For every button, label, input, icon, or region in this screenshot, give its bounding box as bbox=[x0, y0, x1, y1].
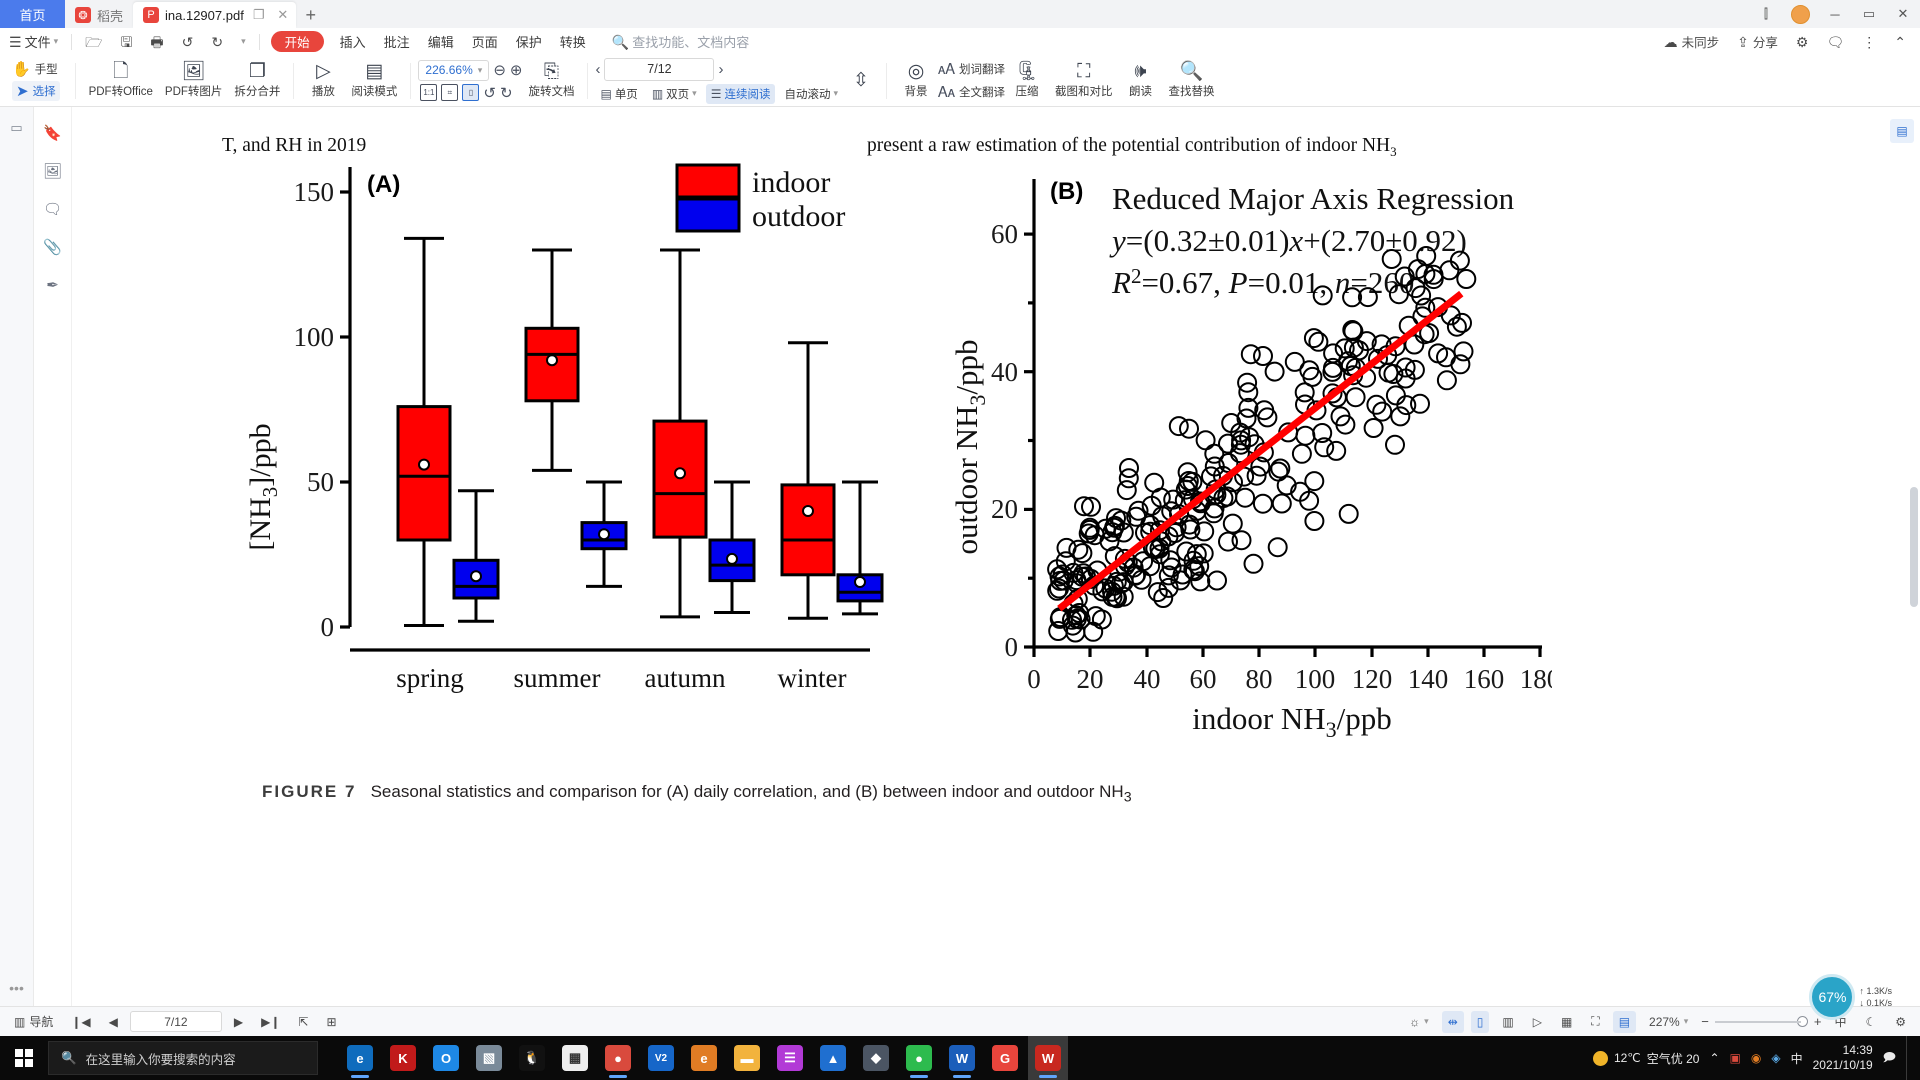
panelA-label: (A) bbox=[367, 171, 400, 198]
divider bbox=[75, 63, 76, 99]
word-translate-label: 划词翻译 bbox=[959, 61, 1005, 77]
undo-icon[interactable]: ↺ bbox=[173, 31, 203, 53]
settings-icon[interactable]: ⚙ bbox=[1889, 1011, 1912, 1033]
gear-icon: ⚙ bbox=[1796, 35, 1809, 49]
more-dots-icon[interactable]: ••• bbox=[9, 980, 24, 996]
pdf-icon: P bbox=[143, 7, 159, 23]
pdf-to-image-icon: 🖼 bbox=[182, 62, 206, 81]
panelB-scatter-points bbox=[1048, 247, 1475, 642]
ribbon-tab-edit-label: 编辑 bbox=[428, 32, 454, 51]
read-aloud-icon: 🕪 bbox=[1134, 62, 1146, 81]
new-tab-button[interactable]: + bbox=[296, 2, 326, 28]
ribbon-tab-annotate[interactable]: 批注 bbox=[375, 31, 419, 53]
prev-page-icon[interactable]: ◀ bbox=[103, 1011, 124, 1033]
new-tab-label: + bbox=[306, 5, 317, 26]
panelB-annotation-1: y=(0.32±0.01)x+(2.70±0.92) bbox=[1109, 223, 1467, 258]
view-mode-auto-scroll-label: 自动滚动 bbox=[784, 86, 830, 102]
crop-view-icon[interactable]: ⛶ bbox=[1585, 1011, 1605, 1033]
bookmark-icon[interactable]: 🔖 bbox=[41, 121, 65, 145]
background-label: 背景 bbox=[904, 83, 927, 99]
divider bbox=[410, 63, 411, 99]
taskbar-search-placeholder: 在这里输入你要搜索的内容 bbox=[86, 1049, 236, 1068]
hand-tool[interactable]: ✋ 手型 bbox=[12, 60, 60, 78]
panelB-label: (B) bbox=[1050, 178, 1083, 205]
play-label: 播放 bbox=[312, 83, 335, 99]
sync-status-button[interactable]: ☁ 未同步 bbox=[1656, 31, 1728, 53]
main-area: ▭ ••• 🔖 🖼 🗨 📎 ✒ T, and RH in 2019 presen… bbox=[0, 107, 1920, 1006]
file-menu-label: 文件 bbox=[25, 32, 51, 51]
window-controls: ⫿ ─ ▭ ✕ bbox=[1749, 0, 1920, 28]
redo-icon[interactable]: ↻ bbox=[202, 31, 232, 53]
compress-button[interactable]: 🗜 压缩 bbox=[1005, 57, 1049, 105]
tab-pdf-label: ina.12907.pdf bbox=[165, 8, 244, 23]
full-translate-icon: 🗛 bbox=[938, 84, 955, 101]
collapse-ribbon-button[interactable]: ⌃ bbox=[1886, 31, 1914, 53]
panelB-xtick-0: 0 bbox=[1027, 664, 1041, 694]
panelA-ytick-0: 0 bbox=[321, 612, 335, 642]
ribbon-tab-convert[interactable]: 转换 bbox=[551, 31, 595, 53]
taskbar-app-wechat[interactable]: ● bbox=[899, 1036, 939, 1080]
tray-expand-icon[interactable]: ⌃ bbox=[1709, 1051, 1719, 1065]
windows-logo-icon bbox=[15, 1049, 33, 1067]
word-translate-button[interactable]: 🗚 划词翻译 bbox=[938, 61, 1005, 78]
panelB-xlabel: indoor NH3/ppb bbox=[1192, 701, 1392, 742]
compress-icon: 🗜 bbox=[1015, 62, 1039, 81]
status-bar: ▥ 导航 ❙◀ ◀ 7/12 ▶ ▶❙ ⇱ ⊞ ☼▾ ⇹ ▯ ▥ ▷ ▦ ⛶ ▤… bbox=[0, 1006, 1920, 1036]
cloud-sync-icon: ☁ bbox=[1664, 35, 1678, 49]
tab-pdf-document[interactable]: P ina.12907.pdf ❐ ✕ bbox=[133, 2, 296, 28]
network-speed-widget[interactable]: 67% ↑ 1.3K/s ↓ 0.1K/s bbox=[1809, 974, 1892, 1020]
more-icon: ⋮ bbox=[1862, 35, 1876, 49]
ribbon-tab-protect[interactable]: 保护 bbox=[507, 31, 551, 53]
find-replace-icon: 🔍 bbox=[1180, 62, 1204, 81]
panelB-ytick-20: 20 bbox=[991, 494, 1018, 524]
clock[interactable]: 14:39 2021/10/19 bbox=[1813, 1043, 1873, 1073]
thumbnail-view-icon[interactable]: ▦ bbox=[1555, 1011, 1578, 1033]
screenshot-compare-label: 截图和对比 bbox=[1055, 83, 1113, 99]
taskbar-app-chrome[interactable]: ● bbox=[598, 1036, 638, 1080]
print-icon[interactable]: 🖶 bbox=[141, 31, 172, 53]
reading-mode-label: 阅读模式 bbox=[351, 83, 397, 99]
boxplot-autumn-indoor bbox=[654, 250, 706, 617]
network-speed-percent-label: 67% bbox=[1818, 989, 1846, 1005]
boxplot-autumn-outdoor bbox=[710, 482, 754, 613]
comment-icon: 🗨 bbox=[1826, 35, 1844, 49]
hand-icon: ✋ bbox=[12, 60, 31, 78]
fit-ratio-label: 1:1 bbox=[423, 88, 434, 97]
zoom-slider-minus-icon[interactable]: − bbox=[1701, 1014, 1709, 1029]
status-page-value: 7/12 bbox=[164, 1015, 187, 1029]
single-page-icon: ▤ bbox=[600, 87, 611, 101]
panelB-xtick-60: 60 bbox=[1190, 664, 1217, 694]
status-zoom-value: 227% bbox=[1649, 1015, 1680, 1029]
navigation-label: 导航 bbox=[29, 1013, 53, 1030]
sun-icon bbox=[1593, 1051, 1608, 1066]
panelB-ytick-40: 40 bbox=[991, 357, 1018, 387]
clock-date: 2021/10/19 bbox=[1813, 1058, 1873, 1073]
chevron-right-icon[interactable]: › bbox=[718, 61, 723, 78]
word-translate-icon: 🗚 bbox=[938, 61, 955, 78]
taskbar-app-edge[interactable]: e bbox=[340, 1036, 380, 1080]
chevron-up-icon: ⌃ bbox=[1894, 35, 1906, 49]
taskbar-app-wps[interactable]: G bbox=[985, 1036, 1025, 1080]
taskbar-app-browser[interactable]: O bbox=[426, 1036, 466, 1080]
more-button[interactable]: ⋮ bbox=[1854, 31, 1884, 53]
thumbnail-icon[interactable]: 🖼 bbox=[41, 159, 65, 183]
zoom-level-dropdown[interactable]: 226.66% ▾ bbox=[418, 60, 489, 81]
taskbar-app-word[interactable]: W bbox=[942, 1036, 982, 1080]
boxplot-summer-outdoor bbox=[582, 482, 626, 586]
read-aloud-label: 朗读 bbox=[1129, 83, 1152, 99]
boxplot-winter-indoor bbox=[782, 343, 834, 619]
maximize-button[interactable]: ▭ bbox=[1852, 0, 1886, 28]
hamburger-icon: ☰ bbox=[9, 35, 22, 49]
book-open-icon: ▤ bbox=[365, 62, 383, 81]
panelB-xtick-20: 20 bbox=[1077, 664, 1104, 694]
search-icon: 🔍 bbox=[61, 1051, 77, 1066]
figure-svg: 0 50 100 150 [NH3]/ppb spring summer aut… bbox=[222, 147, 1552, 747]
cursor-mode-group: ✋ 手型 ➤ 选择 bbox=[4, 56, 68, 106]
page-indicator[interactable]: 7/12 bbox=[604, 58, 714, 81]
chevron-down-icon: ▾ bbox=[478, 65, 483, 76]
taskbar-search-box[interactable]: 🔍 在这里输入你要搜索的内容 bbox=[48, 1041, 318, 1075]
notification-center-icon[interactable]: 🗩 bbox=[1883, 1048, 1896, 1069]
panelA-xtick-autumn: autumn bbox=[645, 663, 726, 693]
ribbon-tab-insert[interactable]: 插入 bbox=[331, 31, 375, 53]
taskbar-app-qq[interactable]: 🐧 bbox=[512, 1036, 552, 1080]
panelB-ytick-0: 0 bbox=[1005, 632, 1019, 662]
system-tray: 12℃ 空气优 20 ⌃ ▣ ◉ ◈ 中 14:39 2021/10/19 🗩 bbox=[1593, 1036, 1920, 1080]
panelA-ytick-100: 100 bbox=[294, 322, 335, 352]
play-view-icon[interactable]: ▷ bbox=[1527, 1011, 1548, 1033]
select-tool-label: 选择 bbox=[33, 83, 56, 99]
fit-page-icon[interactable]: ⌗ bbox=[441, 84, 458, 101]
rotate-right-icon[interactable]: ↻ bbox=[500, 84, 513, 102]
select-tool[interactable]: ➤ 选择 bbox=[12, 81, 60, 101]
legend-label-outdoor: outdoor bbox=[752, 200, 845, 233]
download-rate: ↓ 0.1K/s bbox=[1859, 997, 1892, 1009]
tab-home[interactable]: 首页 bbox=[0, 0, 65, 28]
pdf-to-image-button[interactable]: 🖼 PDF转图片 bbox=[159, 57, 229, 105]
view-mode-continuous[interactable]: ☰ 连续阅读 bbox=[706, 84, 776, 104]
figure-caption: FIGURE 7 Seasonal statistics and compari… bbox=[262, 782, 1562, 805]
eye-protect-icon[interactable]: ☼▾ bbox=[1403, 1011, 1435, 1033]
search-icon: 🔍 bbox=[612, 35, 629, 49]
ribbon-tab-start-label: 开始 bbox=[285, 32, 310, 51]
navigation-icon: ▥ bbox=[14, 1015, 25, 1029]
ribbon-tab-protect-label: 保护 bbox=[516, 32, 542, 51]
pdf-page: T, and RH in 2019 present a raw estimati… bbox=[72, 107, 1884, 1006]
panelA-legend: indoor outdoor bbox=[677, 165, 845, 233]
page-nav-group: ‹ 7/12 › ▤ 单页 ▥ 双页 ▾ ☰ 连续阅读 自动滚动 ▾ bbox=[595, 56, 843, 106]
rotate-left-icon[interactable]: ↺ bbox=[483, 84, 496, 102]
taskbar-app-wps-pdf[interactable]: W bbox=[1028, 1036, 1068, 1080]
taskbar-app-notes[interactable]: ☰ bbox=[770, 1036, 810, 1080]
tray-ime-indicator[interactable]: 中 bbox=[1791, 1050, 1803, 1067]
find-replace-button[interactable]: 🔍 查找替换 bbox=[1162, 57, 1220, 105]
panelB-ylabel: outdoor NH3/ppb bbox=[949, 339, 990, 554]
background-eye-icon: ◎ bbox=[908, 62, 925, 81]
docer-icon: ❂ bbox=[75, 7, 91, 23]
rotate-document-label: 旋转文档 bbox=[528, 83, 574, 99]
status-page-input[interactable]: 7/12 bbox=[130, 1011, 222, 1032]
share-label: 分享 bbox=[1753, 32, 1778, 51]
play-button[interactable]: ▷ 播放 bbox=[301, 57, 345, 105]
zoom-level-value: 226.66% bbox=[425, 63, 472, 77]
browser-tab-bar: 首页 ❂ 稻壳 P ina.12907.pdf ❐ ✕ + ⫿ ─ ▭ ✕ bbox=[0, 0, 1920, 28]
panelB-xtick-40: 40 bbox=[1134, 664, 1161, 694]
start-button[interactable] bbox=[0, 1036, 48, 1080]
divider bbox=[587, 63, 588, 99]
save-icon[interactable]: 🖫 bbox=[111, 31, 141, 53]
view-mode-double-page[interactable]: ▥ 双页 ▾ bbox=[647, 84, 702, 104]
fit-ratio-icon[interactable]: 1:1 bbox=[420, 84, 437, 101]
boxplot-winter-outdoor bbox=[838, 482, 882, 614]
ribbon-tab-page-label: 页面 bbox=[472, 32, 498, 51]
search-placeholder: 查找功能、文档内容 bbox=[632, 32, 749, 51]
status-zoom-dropdown[interactable]: 227% ▾ bbox=[1643, 1011, 1694, 1033]
page-indicator-value: 7/12 bbox=[647, 62, 671, 76]
taskbar-app-store[interactable]: ▦ bbox=[555, 1036, 595, 1080]
taskbar-app-v2[interactable]: V2 bbox=[641, 1036, 681, 1080]
ribbon-tab-annotate-label: 批注 bbox=[384, 32, 410, 51]
translate-group: 🗚 划词翻译 🗛 全文翻译 bbox=[938, 56, 1005, 106]
tab-docer[interactable]: ❂ 稻壳 bbox=[65, 2, 133, 28]
boxplot-summer-indoor bbox=[526, 250, 578, 470]
full-translate-label: 全文翻译 bbox=[959, 84, 1005, 100]
thumbnail-panel-icon[interactable]: ▭ bbox=[4, 115, 30, 141]
taskbar-app-photos[interactable]: ◆ bbox=[856, 1036, 896, 1080]
boxplot-spring-indoor bbox=[398, 238, 450, 625]
ribbon-toolbar: ✋ 手型 ➤ 选择 🗋 PDF转Office 🖼 PDF转图片 ❐ 拆分合并 ▷… bbox=[0, 55, 1920, 107]
fit-width-icon[interactable]: ▯ bbox=[462, 84, 479, 101]
fit-height-icon[interactable]: ⇱ bbox=[292, 1011, 314, 1033]
window-split-icon[interactable]: ⫿ bbox=[1749, 0, 1783, 28]
avatar[interactable] bbox=[1791, 5, 1810, 24]
panelB-annotation-0: Reduced Major Axis Regression bbox=[1112, 181, 1515, 216]
taskbar: 🔍 在这里输入你要搜索的内容 e K O ▧ 🐧 ▦ ● V2 e ▬ ☰ ▲ … bbox=[0, 1036, 1920, 1080]
panelB-xtick-80: 80 bbox=[1246, 664, 1273, 694]
tray-app-icon-2[interactable]: ◉ bbox=[1751, 1051, 1761, 1065]
share-icon: ⇪ bbox=[1737, 35, 1749, 49]
file-menu[interactable]: ☰ 文件 ▾ bbox=[0, 31, 67, 53]
panelA-ytick-150: 150 bbox=[294, 177, 335, 207]
auto-scroll-icon: ⇳ bbox=[853, 71, 869, 90]
view-mode-continuous-label: 连续阅读 bbox=[724, 86, 770, 102]
right-rail: ▤ bbox=[1884, 107, 1920, 1006]
panel-toggle-icon[interactable]: ▤ bbox=[1890, 119, 1914, 143]
settings-button[interactable]: ⚙ bbox=[1788, 31, 1817, 53]
play-circle-icon: ▷ bbox=[316, 62, 331, 81]
continuous-scroll-icon: ☰ bbox=[711, 87, 722, 101]
split-merge-button[interactable]: ❐ 拆分合并 bbox=[228, 57, 286, 105]
ribbon-tab-start[interactable]: 开始 bbox=[271, 31, 324, 52]
divider bbox=[886, 63, 887, 99]
show-desktop-button[interactable] bbox=[1906, 1036, 1914, 1080]
divider bbox=[293, 63, 294, 99]
chevron-down-icon: ▾ bbox=[833, 88, 838, 99]
view-mode-single-page-label: 单页 bbox=[615, 86, 638, 102]
ribbon-tab-page[interactable]: 页面 bbox=[463, 31, 507, 53]
page-view-icon[interactable]: ▤ bbox=[1613, 1011, 1636, 1033]
upload-rate: ↑ 1.3K/s bbox=[1859, 985, 1892, 997]
panelB-ytick-60: 60 bbox=[991, 219, 1018, 249]
search-box[interactable]: 🔍 查找功能、文档内容 bbox=[603, 31, 758, 53]
tray-network-icon[interactable]: ◈ bbox=[1771, 1051, 1780, 1065]
pdf-to-image-label: PDF转图片 bbox=[165, 83, 223, 99]
screenshot-compare-button[interactable]: ⛶ 截图和对比 bbox=[1049, 57, 1119, 105]
panelB-xtick-160: 160 bbox=[1464, 664, 1505, 694]
zoom-slider-track[interactable] bbox=[1715, 1021, 1801, 1023]
screenshot-compare-icon: ⛶ bbox=[1077, 62, 1090, 81]
panelB-annotation-2: R2=0.67, P=0.01, n=260 bbox=[1111, 264, 1414, 300]
panelA-ytick-50: 50 bbox=[307, 467, 334, 497]
chevron-down-icon: ▾ bbox=[54, 36, 59, 47]
figure-caption-sub: 3 bbox=[1124, 789, 1132, 805]
panelB-xtick-140: 140 bbox=[1408, 664, 1449, 694]
weather-temp: 12℃ bbox=[1614, 1051, 1641, 1065]
rotate-document-button[interactable]: ⎘ 旋转文档 bbox=[522, 57, 580, 105]
share-button[interactable]: ⇪ 分享 bbox=[1729, 31, 1786, 53]
comment-icon[interactable]: 🗨 bbox=[41, 197, 65, 221]
quick-access-more-icon[interactable]: ▾ bbox=[232, 31, 255, 53]
weather-widget[interactable]: 12℃ 空气优 20 bbox=[1593, 1050, 1700, 1067]
view-mode-double-page-label: 双页 bbox=[666, 86, 689, 102]
tab-detach-icon[interactable]: ❐ bbox=[250, 6, 268, 24]
taskbar-app-ie[interactable]: e bbox=[684, 1036, 724, 1080]
hand-tool-label: 手型 bbox=[35, 61, 58, 77]
zoom-group: 226.66% ▾ ⊖ ⊕ 1:1 ⌗ ▯ ↺ ↻ bbox=[418, 56, 522, 106]
find-replace-label: 查找替换 bbox=[1168, 83, 1214, 99]
figure-caption-prefix: FIGURE 7 bbox=[262, 782, 356, 801]
close-button[interactable]: ✕ bbox=[1886, 0, 1920, 28]
panelB-xtick-100: 100 bbox=[1295, 664, 1336, 694]
background-button[interactable]: ◎ 背景 bbox=[894, 57, 938, 105]
divider bbox=[71, 34, 72, 50]
sync-status-label: 未同步 bbox=[1682, 32, 1720, 51]
ribbon-tab-edit[interactable]: 编辑 bbox=[419, 31, 463, 53]
feedback-button[interactable]: 🗨 bbox=[1818, 31, 1852, 53]
taskbar-app-folder[interactable]: ▬ bbox=[727, 1036, 767, 1080]
open-icon[interactable]: 🗁 bbox=[76, 31, 111, 53]
split-merge-icon: ❐ bbox=[249, 62, 266, 81]
side-tool-column: 🔖 🖼 🗨 📎 ✒ bbox=[34, 107, 72, 1006]
pdf-to-word-icon: 🗋 bbox=[113, 62, 128, 81]
zoom-out-icon[interactable]: ⊖ bbox=[493, 61, 506, 79]
menu-bar-right: ☁ 未同步 ⇪ 分享 ⚙ 🗨 ⋮ ⌃ bbox=[1656, 31, 1914, 53]
taskbar-app-kingsoft[interactable]: K bbox=[383, 1036, 423, 1080]
cursor-icon: ➤ bbox=[16, 82, 29, 100]
taskbar-app-files[interactable]: ▧ bbox=[469, 1036, 509, 1080]
fit-page-icon[interactable]: ⊞ bbox=[320, 1011, 342, 1033]
vertical-scrollbar-thumb[interactable] bbox=[1910, 487, 1918, 607]
ribbon-tab-convert-label: 转换 bbox=[560, 32, 586, 51]
panelA-ylabel: [NH3]/ppb bbox=[244, 423, 282, 550]
chevron-down-icon: ▾ bbox=[1684, 1016, 1689, 1027]
pdf-to-office-button[interactable]: 🗋 PDF转Office bbox=[83, 57, 159, 105]
chevron-left-icon[interactable]: ‹ bbox=[595, 61, 600, 78]
view-mode-auto-scroll[interactable]: 自动滚动 ▾ bbox=[779, 84, 843, 104]
signature-icon[interactable]: ✒ bbox=[41, 273, 65, 297]
panelB-annotations: Reduced Major Axis Regression y=(0.32±0.… bbox=[1109, 181, 1515, 300]
taskbar-app-weather[interactable]: ▲ bbox=[813, 1036, 853, 1080]
double-page-view-icon[interactable]: ▥ bbox=[1496, 1011, 1519, 1033]
navigation-button[interactable]: ▥ 导航 bbox=[8, 1011, 59, 1033]
ribbon-tab-insert-label: 插入 bbox=[340, 32, 366, 51]
menu-bar: ☰ 文件 ▾ 🗁 🖫 🖶 ↺ ↻ ▾ 开始 插入 批注 编辑 页面 保护 转换 … bbox=[0, 28, 1920, 55]
weather-text: 空气优 20 bbox=[1647, 1050, 1700, 1067]
tray-app-icon-1[interactable]: ▣ bbox=[1730, 1051, 1741, 1065]
clock-time: 14:39 bbox=[1843, 1043, 1873, 1058]
chevron-down-icon: ▾ bbox=[692, 88, 697, 99]
network-speed-percent: 67% bbox=[1809, 974, 1855, 1020]
rotate-document-icon: ⎘ bbox=[544, 62, 559, 81]
fit-width-view-icon[interactable]: ⇹ bbox=[1442, 1011, 1464, 1033]
read-aloud-button[interactable]: 🕪 朗读 bbox=[1118, 57, 1162, 105]
panelB-xtick-180: 180 bbox=[1520, 664, 1552, 694]
reading-mode-button[interactable]: ▤ 阅读模式 bbox=[345, 57, 403, 105]
figure-7: 0 50 100 150 [NH3]/ppb spring summer aut… bbox=[222, 147, 1552, 737]
document-viewport[interactable]: T, and RH in 2019 present a raw estimati… bbox=[72, 107, 1884, 1006]
legend-label-indoor: indoor bbox=[752, 166, 830, 199]
double-page-icon: ▥ bbox=[652, 87, 663, 101]
zoom-in-icon[interactable]: ⊕ bbox=[510, 61, 523, 79]
scroll-mode-button[interactable]: ⇳ bbox=[843, 57, 879, 105]
single-page-view-icon[interactable]: ▯ bbox=[1471, 1011, 1490, 1033]
compress-label: 压缩 bbox=[1015, 83, 1038, 99]
tab-docer-label: 稻壳 bbox=[97, 6, 123, 25]
last-page-icon[interactable]: ▶❙ bbox=[255, 1011, 286, 1033]
next-page-icon[interactable]: ▶ bbox=[228, 1011, 249, 1033]
boxplot-spring-outdoor bbox=[454, 491, 498, 622]
minimize-button[interactable]: ─ bbox=[1818, 0, 1852, 28]
divider bbox=[259, 34, 260, 50]
network-rates: ↑ 1.3K/s ↓ 0.1K/s bbox=[1859, 985, 1892, 1009]
panelA-xtick-summer: summer bbox=[514, 663, 601, 693]
taskbar-app-list: e K O ▧ 🐧 ▦ ● V2 e ▬ ☰ ▲ ◆ ● W G W bbox=[340, 1036, 1068, 1080]
tab-home-label: 首页 bbox=[19, 5, 45, 24]
panelA-xtick-spring: spring bbox=[396, 663, 464, 693]
pdf-to-office-label: PDF转Office bbox=[89, 83, 153, 99]
panelB-xtick-120: 120 bbox=[1352, 664, 1393, 694]
view-mode-single-page[interactable]: ▤ 单页 bbox=[595, 84, 642, 104]
figure-caption-text: Seasonal statistics and comparison for (… bbox=[371, 782, 1124, 801]
first-page-icon[interactable]: ❙◀ bbox=[65, 1011, 96, 1033]
left-rail: ▭ ••• bbox=[0, 107, 34, 1006]
panelA-xtick-winter: winter bbox=[778, 663, 847, 693]
attachment-icon[interactable]: 📎 bbox=[41, 235, 65, 259]
full-translate-button[interactable]: 🗛 全文翻译 bbox=[938, 84, 1005, 101]
tab-close-icon[interactable]: ✕ bbox=[274, 6, 292, 24]
zoom-slider[interactable]: − + bbox=[1701, 1014, 1821, 1029]
split-merge-label: 拆分合并 bbox=[234, 83, 280, 99]
